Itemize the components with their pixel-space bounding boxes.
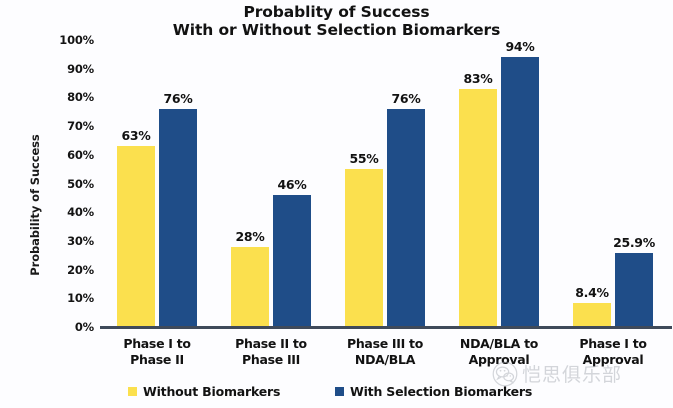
legend-item[interactable]: With Selection Biomarkers <box>335 384 532 399</box>
x-axis-category-label-line-2: Phase II <box>100 352 214 368</box>
x-axis-category-label-line-2: Approval <box>556 352 670 368</box>
bar[interactable] <box>615 253 653 327</box>
y-axis-tick: 20% <box>42 263 94 277</box>
x-axis-category-label-line-1: Phase III to <box>328 336 442 352</box>
bar[interactable] <box>345 169 383 327</box>
legend-swatch-icon <box>335 387 344 396</box>
y-axis-tick: 10% <box>42 291 94 305</box>
bar-group: 63%76% <box>117 40 197 327</box>
y-axis-tick: 50% <box>42 177 94 191</box>
y-axis-title: Probability of Success <box>28 110 42 300</box>
x-axis-category-label: NDA/BLA toApproval <box>442 336 556 368</box>
x-axis-category-label: Phase II toPhase III <box>214 336 328 368</box>
y-axis-tick: 60% <box>42 148 94 162</box>
x-axis-category-label-line-2: Phase III <box>214 352 328 368</box>
bar-value-label: 25.9% <box>599 235 669 250</box>
bar[interactable] <box>573 303 611 327</box>
bar[interactable] <box>117 146 155 327</box>
x-axis-line <box>100 326 672 329</box>
y-axis-tick-labels: 100%90%80%70%60%50%40%30%20%10%0% <box>42 0 94 408</box>
chart-legend: Without BiomarkersWith Selection Biomark… <box>0 384 673 406</box>
bar[interactable] <box>501 57 539 327</box>
bar-group: 8.4%25.9% <box>573 40 653 327</box>
legend-item[interactable]: Without Biomarkers <box>128 384 280 399</box>
y-axis-tick: 80% <box>42 90 94 104</box>
bar-group: 55%76% <box>345 40 425 327</box>
y-axis-tick: 90% <box>42 62 94 76</box>
x-axis-category-label-line-1: NDA/BLA to <box>442 336 556 352</box>
x-axis-category-label-line-1: Phase I to <box>556 336 670 352</box>
x-axis-category-label: Phase I toApproval <box>556 336 670 368</box>
bar-group: 83%94% <box>459 40 539 327</box>
bar[interactable] <box>159 109 197 327</box>
x-axis-category-label-line-1: Phase I to <box>100 336 214 352</box>
x-axis-category-label-line-2: NDA/BLA <box>328 352 442 368</box>
bar-value-label: 76% <box>143 91 213 106</box>
bar-value-label: 94% <box>485 39 555 54</box>
bar[interactable] <box>231 247 269 327</box>
y-axis-tick: 40% <box>42 205 94 219</box>
bar-value-label: 46% <box>257 177 327 192</box>
y-axis-tick: 0% <box>42 320 94 334</box>
legend-label: Without Biomarkers <box>143 384 280 399</box>
bar-group: 28%46% <box>231 40 311 327</box>
x-axis-category-label-line-2: Approval <box>442 352 556 368</box>
bar[interactable] <box>273 195 311 327</box>
plot-area: 63%76%28%46%55%76%83%94%8.4%25.9% <box>100 40 670 327</box>
bar-chart: Probablity of Success With or Without Se… <box>0 0 673 408</box>
legend-label: With Selection Biomarkers <box>350 384 532 399</box>
y-axis-tick: 30% <box>42 234 94 248</box>
x-axis-category-label: Phase I toPhase II <box>100 336 214 368</box>
x-axis-category-label-line-1: Phase II to <box>214 336 328 352</box>
bar[interactable] <box>459 89 497 327</box>
chart-title: Probablity of Success With or Without Se… <box>0 3 673 39</box>
y-axis-tick: 100% <box>42 33 94 47</box>
bar-value-label: 76% <box>371 91 441 106</box>
bar[interactable] <box>387 109 425 327</box>
chart-title-line-2: With or Without Selection Biomarkers <box>0 21 673 39</box>
x-axis-category-labels: Phase I toPhase IIPhase II toPhase IIIPh… <box>100 336 670 376</box>
legend-swatch-icon <box>128 387 137 396</box>
y-axis-tick: 70% <box>42 119 94 133</box>
chart-title-line-1: Probablity of Success <box>0 3 673 21</box>
x-axis-category-label: Phase III toNDA/BLA <box>328 336 442 368</box>
